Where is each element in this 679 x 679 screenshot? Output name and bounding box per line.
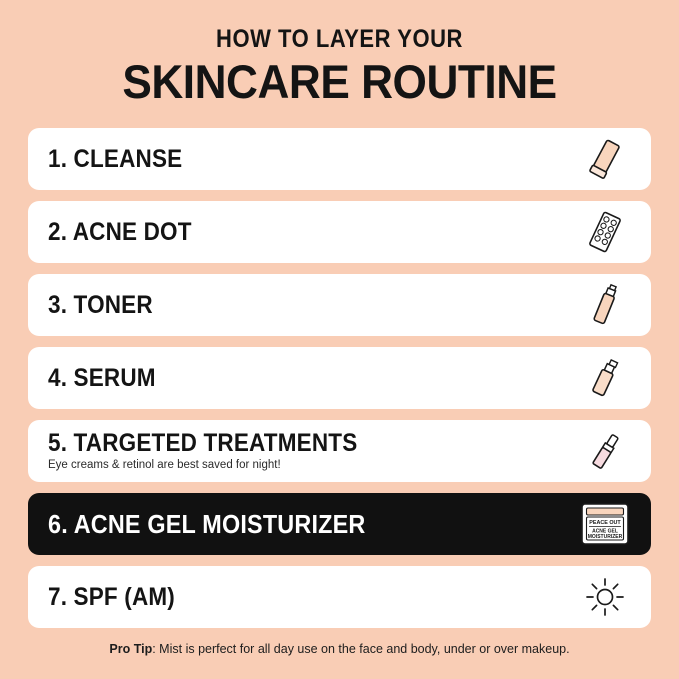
- step-label: 6. ACNE GEL MOISTURIZER: [48, 511, 524, 538]
- step-text-block: 5. TARGETED TREATMENTS Eye creams & reti…: [48, 430, 577, 472]
- pro-tip-label: Pro Tip: [109, 642, 152, 656]
- routine-step-list: 1. CLEANSE 2. ACNE DOT: [28, 128, 651, 628]
- step-text-block: 2. ACNE DOT: [48, 219, 577, 245]
- step-label: 4. SERUM: [48, 365, 524, 391]
- step-text-block: 1. CLEANSE: [48, 146, 577, 172]
- pro-tip-text: : Mist is perfect for all day use on the…: [152, 642, 569, 656]
- step-label: 7. SPF (AM): [48, 584, 524, 610]
- treatment-applicator-icon: [577, 423, 633, 479]
- poster-headline: SKINCARE ROUTINE: [47, 57, 633, 106]
- poster-kicker: HOW TO LAYER YOUR: [65, 27, 613, 52]
- routine-step-row[interactable]: 3. TONER: [28, 274, 651, 336]
- poster-header: HOW TO LAYER YOUR SKINCARE ROUTINE: [28, 0, 651, 106]
- routine-step-row[interactable]: 7. SPF (AM): [28, 566, 651, 628]
- acne-dot-patch-sheet-icon: [577, 204, 633, 260]
- step-text-block: 7. SPF (AM): [48, 584, 577, 610]
- jar-brand-text: PEACE OUT: [589, 521, 621, 527]
- step-text-block: 3. TONER: [48, 292, 577, 318]
- skincare-routine-poster: HOW TO LAYER YOUR SKINCARE ROUTINE 1. CL…: [0, 0, 679, 679]
- step-label: 2. ACNE DOT: [48, 219, 524, 245]
- jar-name-line2: MOISTURIZER: [588, 534, 623, 540]
- step-text-block: 6. ACNE GEL MOISTURIZER: [48, 511, 577, 538]
- routine-step-row[interactable]: 2. ACNE DOT: [28, 201, 651, 263]
- sun-icon: [577, 569, 633, 625]
- routine-step-row-highlighted[interactable]: 6. ACNE GEL MOISTURIZER PEACE OUT ACNE G…: [28, 493, 651, 555]
- routine-step-row[interactable]: 4. SERUM: [28, 347, 651, 409]
- step-label: 5. TARGETED TREATMENTS: [48, 430, 524, 456]
- pro-tip-footer: Pro Tip: Mist is perfect for all day use…: [28, 641, 651, 657]
- step-text-block: 4. SERUM: [48, 365, 577, 391]
- cleanser-tube-icon: [577, 131, 633, 187]
- step-label: 3. TONER: [48, 292, 524, 318]
- step-subtitle: Eye creams & retinol are best saved for …: [48, 459, 577, 473]
- routine-step-row[interactable]: 1. CLEANSE: [28, 128, 651, 190]
- serum-pump-bottle-icon: [577, 350, 633, 406]
- acne-gel-moisturizer-jar-icon: PEACE OUT ACNE GEL MOISTURIZER: [577, 496, 633, 552]
- toner-bottle-icon: [577, 277, 633, 333]
- step-label: 1. CLEANSE: [48, 146, 524, 172]
- routine-step-row[interactable]: 5. TARGETED TREATMENTS Eye creams & reti…: [28, 420, 651, 482]
